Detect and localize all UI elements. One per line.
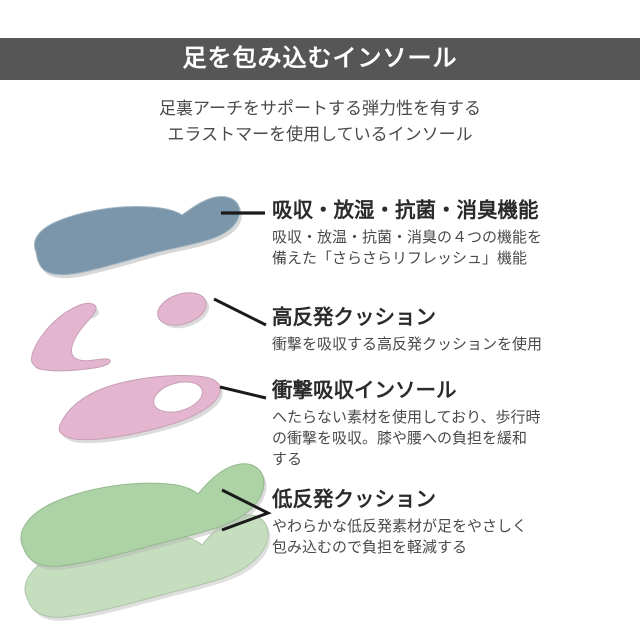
feature-description-line: する: [272, 449, 541, 470]
shape-pad-pink: [154, 287, 214, 334]
feature-description: 衝撃を吸収する高反発クッションを使用: [272, 334, 542, 355]
feature-title: 低反発クッション: [272, 487, 527, 513]
feature-description-line: 吸収・放温・抗菌・消臭の４つの機能を: [272, 227, 542, 248]
subtitle-line-2: エラストマーを使用しているインソール: [0, 122, 640, 148]
feature-block-absorption: 吸収・放湿・抗菌・消臭機能 吸収・放温・抗菌・消臭の４つの機能を 備えた「さらさ…: [272, 198, 542, 269]
header-bar: 足を包み込むインソール: [0, 38, 640, 80]
shape-insole-blue: [34, 197, 242, 279]
subtitle: 足裏アーチをサポートする弾力性を有する エラストマーを使用しているインソール: [0, 96, 640, 147]
shape-heel-cup-pink: [32, 303, 111, 371]
feature-title: 吸収・放湿・抗菌・消臭機能: [272, 198, 542, 224]
feature-description-line: 備えた「さらさらリフレッシュ」機能: [272, 248, 542, 269]
feature-description: 吸収・放温・抗菌・消臭の４つの機能を 備えた「さらさらリフレッシュ」機能: [272, 227, 542, 270]
feature-description-line: やわらかな低反発素材が足をやさしく: [272, 516, 527, 537]
feature-title: 衝撃吸収インソール: [272, 378, 541, 404]
feature-block-high-rebound: 高反発クッション 衝撃を吸収する高反発クッションを使用: [272, 305, 542, 355]
leader-line-3: [220, 387, 266, 398]
feature-description-line: の衝撃を吸収。膝や腰への負担を緩和: [272, 428, 541, 449]
feature-description: へたらない素材を使用しており、歩行時 の衝撃を吸収。膝や腰への負担を緩和 する: [272, 407, 541, 471]
feature-block-low-rebound: 低反発クッション やわらかな低反発素材が足をやさしく 包み込むので負担を軽減する: [272, 487, 527, 558]
feature-block-shock-absorbing: 衝撃吸収インソール へたらない素材を使用しており、歩行時 の衝撃を吸収。膝や腰へ…: [272, 378, 541, 471]
shape-insole-green-light: [25, 515, 270, 621]
feature-description-line: 衝撃を吸収する高反発クッションを使用: [272, 334, 542, 355]
feature-title: 高反発クッション: [272, 305, 542, 331]
feature-description-line: 包み込むので負担を軽減する: [272, 537, 527, 558]
shape-insole-pink: [59, 376, 223, 444]
infographic-page: 足を包み込むインソール 足裏アーチをサポートする弾力性を有する エラストマーを使…: [0, 0, 640, 640]
shape-insole-green: [21, 464, 266, 570]
page-title: 足を包み込むインソール: [183, 47, 458, 71]
feature-description: やわらかな低反発素材が足をやさしく 包み込むので負担を軽減する: [272, 516, 527, 559]
leader-line-2: [214, 299, 266, 325]
feature-description-line: へたらない素材を使用しており、歩行時: [272, 407, 541, 428]
subtitle-line-1: 足裏アーチをサポートする弾力性を有する: [0, 96, 640, 122]
leader-caret-4: [222, 490, 268, 530]
